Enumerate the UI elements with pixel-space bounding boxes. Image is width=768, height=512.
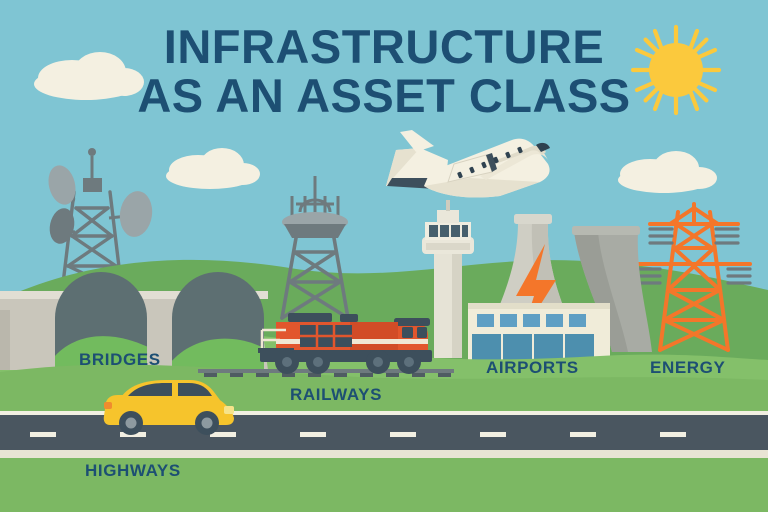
label-energy: ENERGY xyxy=(650,358,725,378)
label-railways: RAILWAYS xyxy=(290,385,382,405)
label-highways: HIGHWAYS xyxy=(85,461,181,481)
label-bridges: BRIDGES xyxy=(79,350,161,370)
airport-terminal-icon xyxy=(468,303,610,360)
page-title-line-2: AS AN ASSET CLASS xyxy=(0,73,768,119)
label-airports: AIRPORTS xyxy=(486,358,579,378)
infographic-poster: INFRASTRUCTURE AS AN ASSET CLASS BRIDGES… xyxy=(0,0,768,512)
page-title-line-1: INFRASTRUCTURE xyxy=(0,24,768,70)
